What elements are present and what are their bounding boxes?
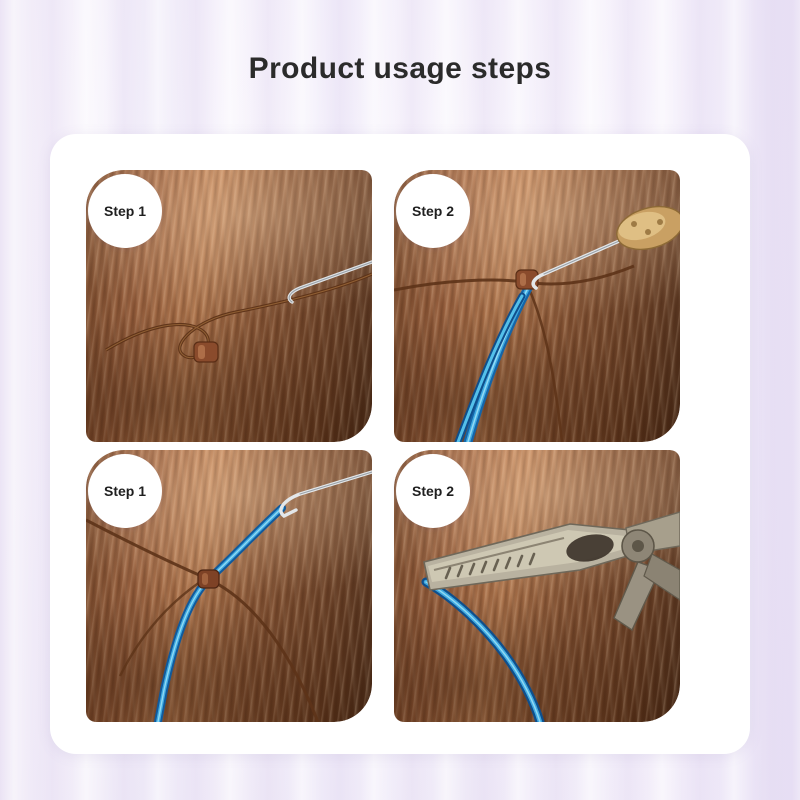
step-badge-4: Step 2 [396, 454, 470, 528]
brown-loop-cord [106, 274, 372, 358]
step-badge-1: Step 1 [88, 174, 162, 248]
blue-metallic-strands [426, 582, 540, 722]
brown-micro-bead [198, 570, 219, 588]
step-tile-1[interactable]: Step 1 [86, 170, 372, 442]
step-tile-2[interactable]: Step 2 [394, 170, 680, 442]
step-tile-3[interactable]: Step 1 [86, 450, 372, 722]
steps-grid: Step 1 [50, 134, 750, 754]
brown-loop-cord [394, 266, 634, 290]
step-tile-4[interactable]: Step 2 [394, 450, 680, 722]
brown-loop-cord [86, 520, 318, 722]
blue-metallic-strands [458, 288, 528, 442]
gold-handle-tool [612, 199, 680, 256]
step-badge-3: Step 1 [88, 454, 162, 528]
poster-root: Product usage steps [0, 0, 800, 800]
step-badge-2: Step 2 [396, 174, 470, 248]
silver-threading-needle [281, 472, 372, 516]
page-title: Product usage steps [0, 52, 800, 86]
brown-micro-bead [194, 342, 218, 362]
blue-metallic-strands [158, 508, 282, 722]
